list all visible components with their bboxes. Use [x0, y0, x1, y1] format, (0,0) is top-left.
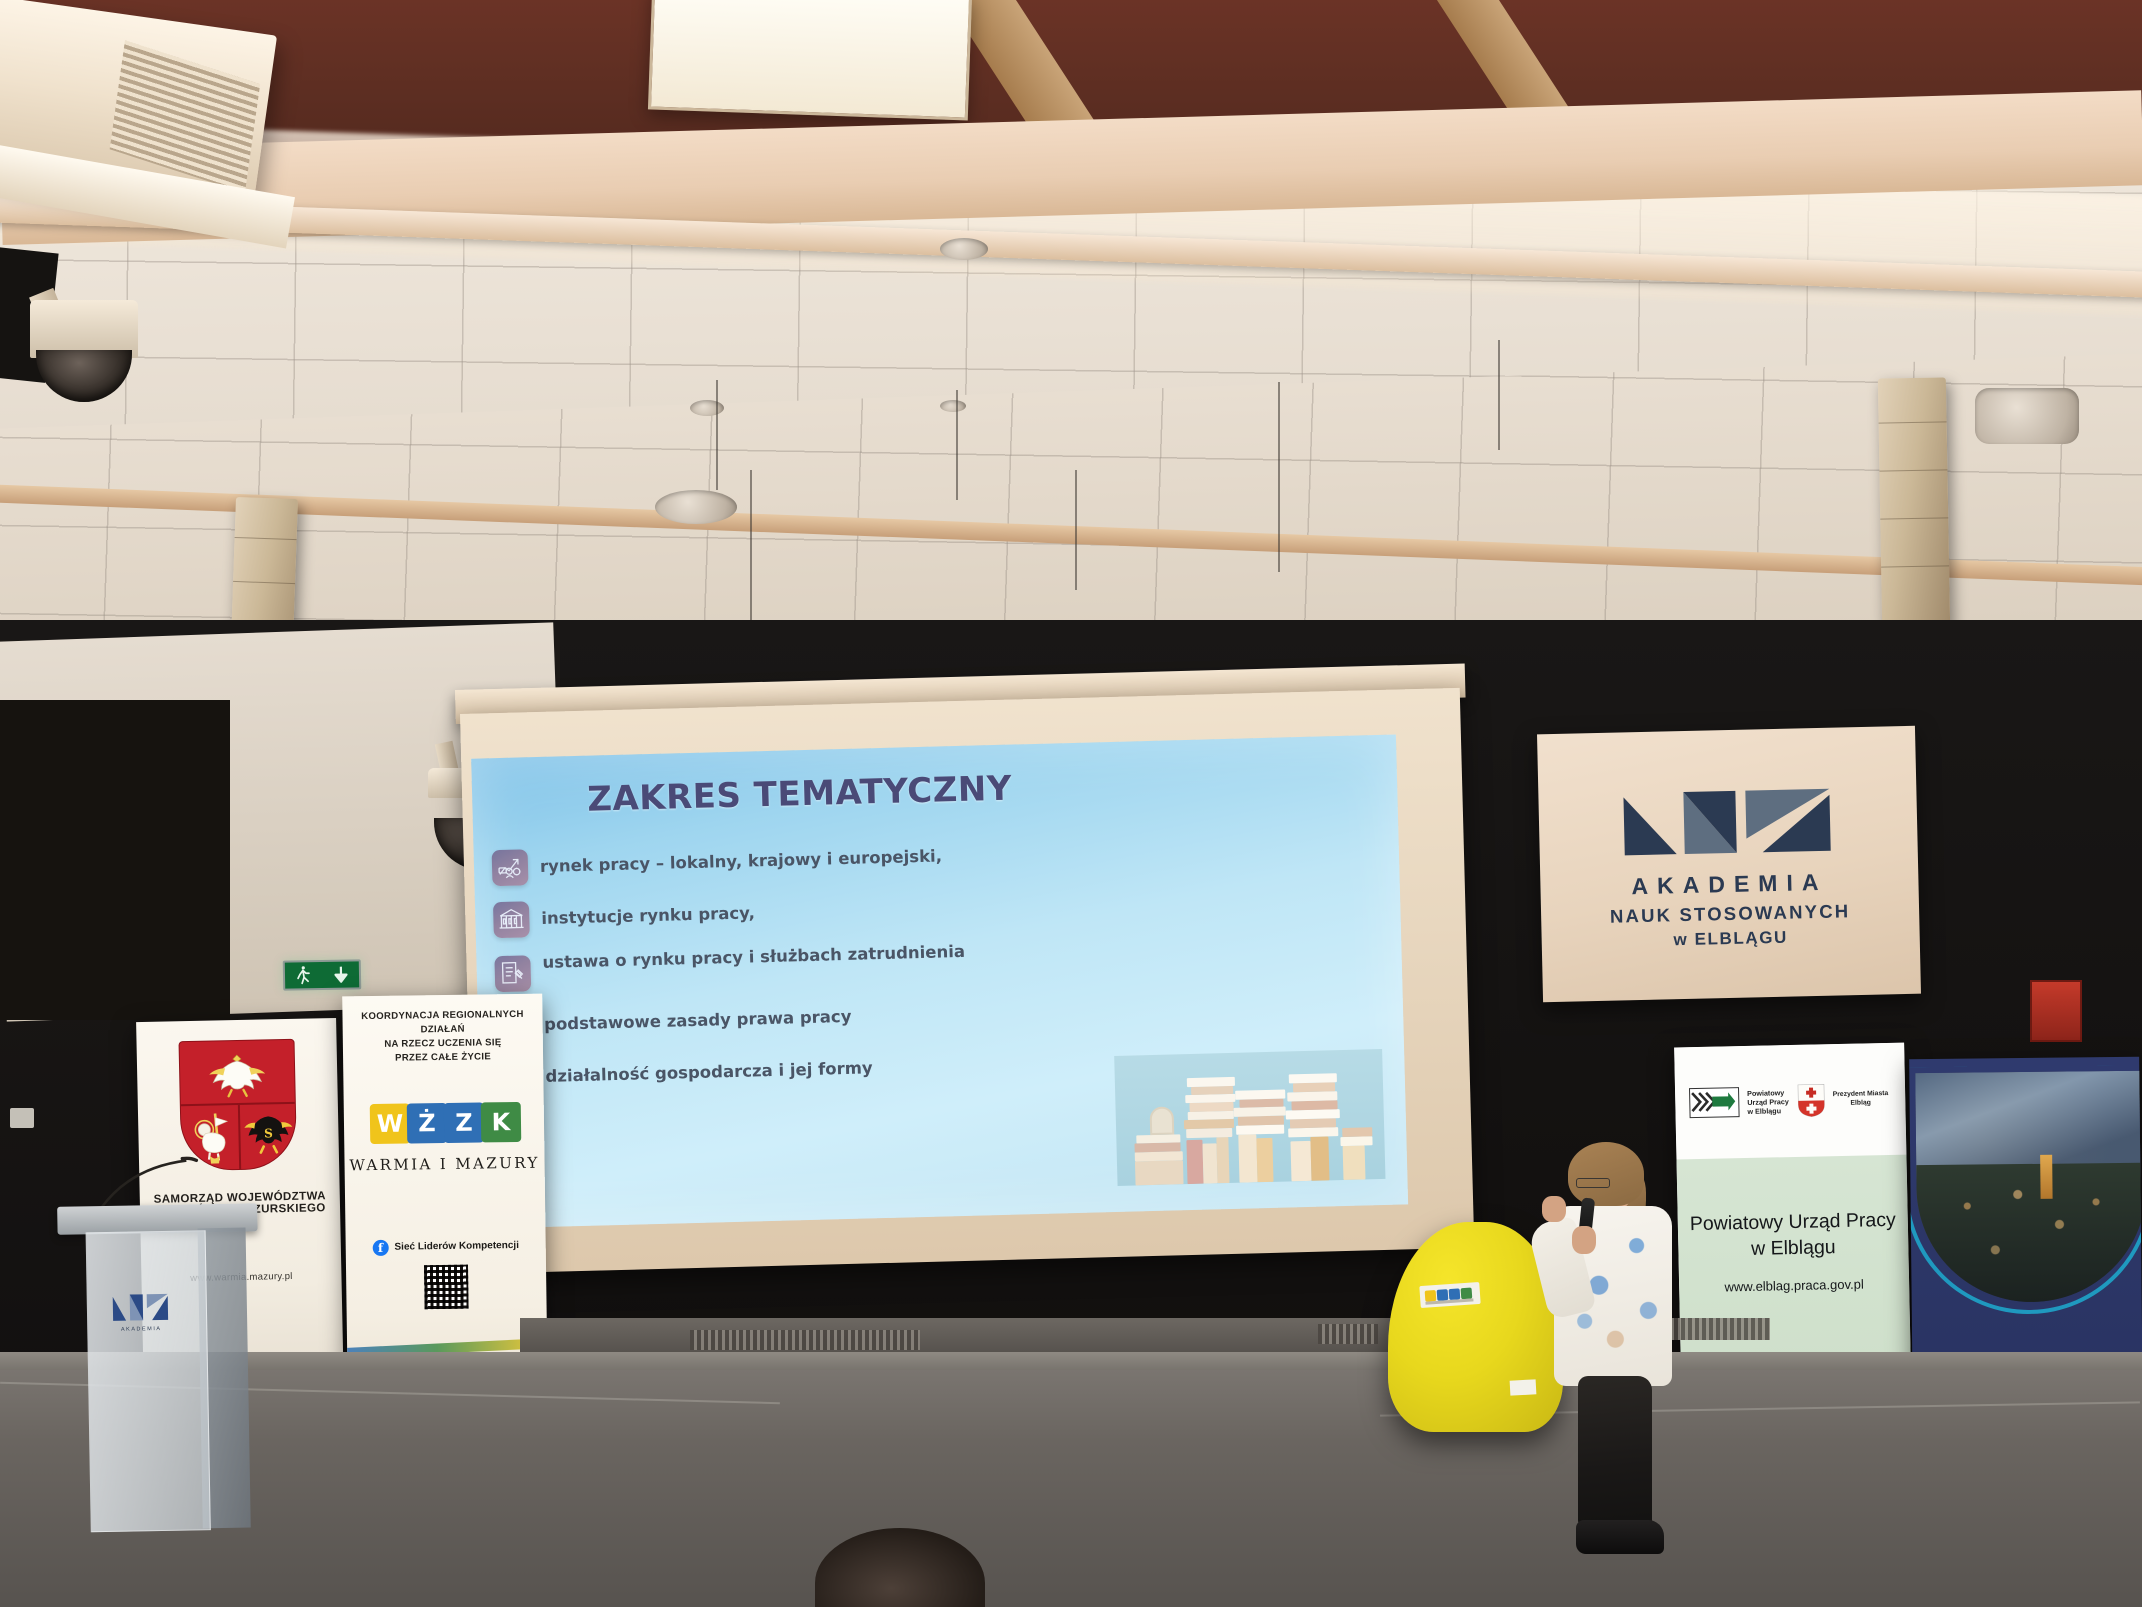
list-item: działalność gospodarcza i jej formy: [497, 1047, 1018, 1097]
chart-briefcase-icon: [492, 849, 529, 886]
facebook-icon: f: [372, 1239, 388, 1255]
institution-building-icon: [493, 901, 530, 938]
wzk-subtitle: WARMIA I MAZURY: [349, 1153, 540, 1174]
leather-trousers: [1578, 1376, 1652, 1528]
puzzle-piece-k: K: [481, 1102, 522, 1143]
boot: [1576, 1520, 1664, 1554]
qr-code: [424, 1264, 469, 1309]
document-gavel-icon: [494, 955, 531, 992]
slide-bullet-list: rynek pracy – lokalny, krajowy i europej…: [492, 837, 1019, 1113]
wzk-logo: W Ż Z K: [370, 1102, 519, 1144]
lecture-hall-photo: AKADEMIA NAUK STOSOWANYCH w ELBLĄGU ZAKR…: [0, 0, 2142, 1607]
wzk-headline-3: PRZEZ CAŁE ŻYCIE: [395, 1050, 491, 1065]
puzzle-piece-w: W: [370, 1103, 411, 1144]
elblag-crest-icon: [1796, 1083, 1825, 1118]
sign-line-1: AKADEMIA: [1631, 869, 1828, 900]
fire-alarm-box: [2030, 980, 2082, 1042]
line-array-speaker-right: [1878, 377, 1950, 628]
ceiling-light-panel: [648, 0, 972, 121]
svg-text:AKADEMIA: AKADEMIA: [121, 1326, 162, 1333]
wzk-banner: KOORDYNACJA REGIONALNYCH DZIAŁAŃ NA RZEC…: [342, 994, 548, 1397]
gesturing-hand: [1542, 1196, 1566, 1222]
left-dark-recess: [0, 700, 230, 1020]
ceiling-sensor: [690, 400, 724, 416]
slide-title: ZAKRES TEMATYCZNY: [587, 769, 1013, 820]
slide-surface: ZAKRES TEMATYCZNY r: [471, 735, 1408, 1229]
mic-hand: [1572, 1226, 1596, 1254]
emergency-exit-sign: [283, 959, 362, 990]
list-item-label: podstawowe zasady prawa pracy: [544, 1007, 852, 1035]
ceiling-sensor: [940, 400, 966, 412]
prezydent-logo-label: Prezydent Miasta Elbląg: [1833, 1090, 1889, 1109]
hanging-wire: [956, 390, 958, 500]
wzk-headline-1: KOORDYNACJA REGIONALNYCH DZIAŁAŃ: [342, 1008, 542, 1039]
stacks-of-books-photo: [1114, 1049, 1385, 1186]
hanging-wire: [716, 380, 718, 490]
list-item: ustawa o rynku pracy i służbach zatrudni…: [494, 941, 1015, 993]
floor-vent: [1318, 1324, 1378, 1344]
banner-arc-accent: [1909, 1065, 2142, 1316]
stage-floor: [0, 1370, 2142, 1607]
list-item-label: rynek pracy – lokalny, krajowy i europej…: [540, 847, 942, 877]
list-item: podstawowe zasady prawa pracy: [496, 995, 1017, 1045]
ceiling-vent: [655, 490, 737, 524]
ceiling-vent: [940, 238, 988, 260]
presenter-speaking: [1520, 1148, 1720, 1568]
wzk-logo-tag: [1419, 1282, 1480, 1308]
hanging-wire: [1278, 382, 1280, 572]
facebook-row: f Sieć Liderów Kompetencji: [372, 1238, 519, 1256]
akademia-wall-sign: AKADEMIA NAUK STOSOWANYCH w ELBLĄGU: [1537, 726, 1921, 1003]
sign-line-3: w ELBLĄGU: [1673, 928, 1788, 951]
akademia-logo: AKADEMIA: [112, 1290, 171, 1337]
akademia-logo-mark: [1621, 777, 1835, 858]
puzzle-piece-z: Z: [444, 1102, 485, 1143]
list-item: instytucje rynku pracy,: [493, 889, 1014, 939]
hanging-wire: [750, 470, 752, 630]
sign-line-2: NAUK STOSOWANYCH: [1610, 900, 1851, 927]
list-item-label: działalność gospodarcza i jej formy: [545, 1058, 873, 1086]
pup-arrow-logo: [1689, 1087, 1740, 1118]
dome-camera-left: [30, 300, 138, 358]
white-eagle-icon: [195, 1048, 280, 1102]
down-arrow-icon: [332, 965, 348, 985]
glasses: [1576, 1178, 1610, 1188]
facebook-label: Sieć Liderów Kompetencji: [394, 1240, 519, 1253]
pup-logos-row: Powiatowy Urząd Pracy w Elblągu Prezyden…: [1674, 1043, 1906, 1160]
wall-socket: [10, 1108, 34, 1128]
svg-text:S: S: [264, 1126, 273, 1140]
running-person-icon: [295, 965, 311, 985]
hair-front: [1568, 1142, 1644, 1206]
floor-vent: [690, 1330, 920, 1350]
ceiling-speaker-right: [1975, 388, 2079, 444]
list-item-label: ustawa o rynku pracy i służbach zatrudni…: [542, 942, 965, 973]
lectern-front-panel: AKADEMIA: [86, 1230, 211, 1532]
warmia-mazury-coat-of-arms: S: [179, 1039, 298, 1171]
hanging-wire: [1498, 340, 1500, 450]
projection-screen: ZAKRES TEMATYCZNY r: [460, 688, 1474, 1274]
black-eagle-icon: S: [243, 1106, 294, 1165]
list-item-label: instytucje rynku pracy,: [541, 903, 755, 928]
list-item: rynek pracy – lokalny, krajowy i europej…: [492, 837, 1013, 887]
puzzle-piece-z-dot: Ż: [407, 1103, 448, 1144]
lectern: AKADEMIA: [75, 1204, 249, 1537]
pup-logo-label: Powiatowy Urząd Pracy w Elblągu: [1747, 1088, 1789, 1116]
hanging-wire: [1075, 470, 1077, 590]
